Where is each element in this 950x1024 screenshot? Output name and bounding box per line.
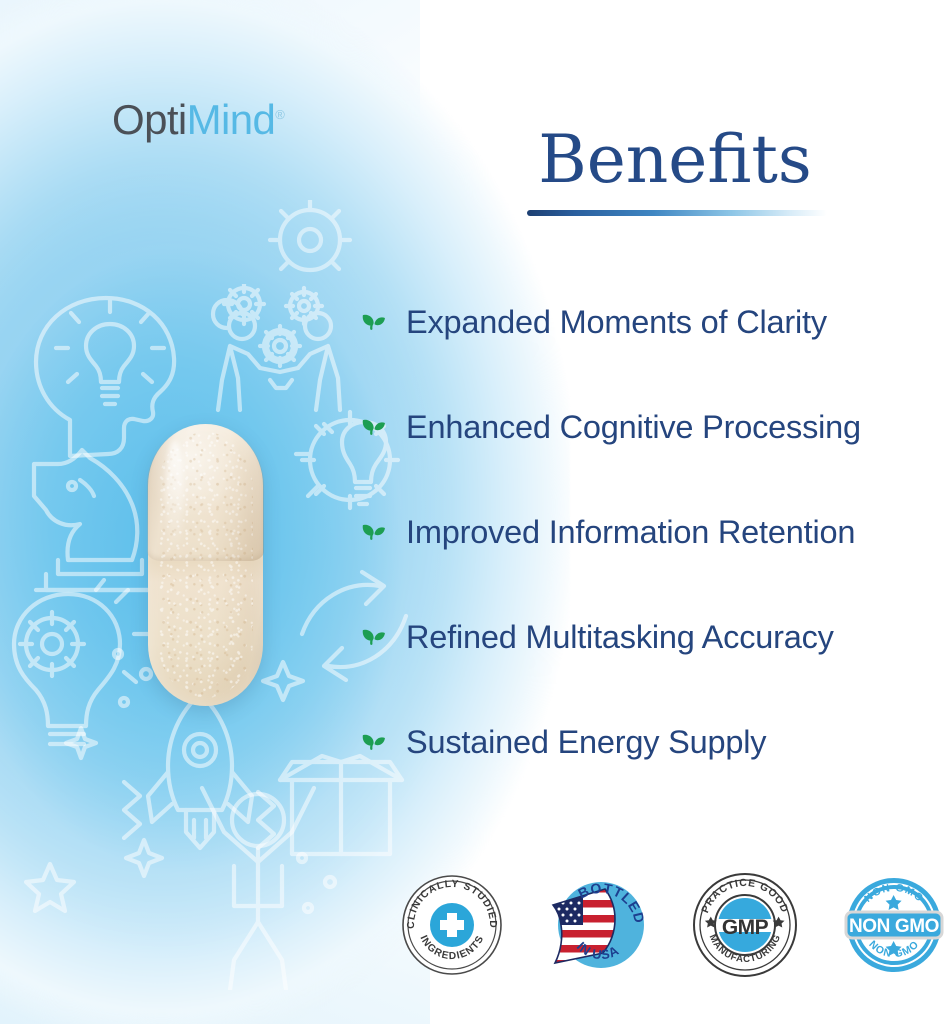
registered-trademark-icon: ® xyxy=(275,107,284,122)
green-leaf-sprout-icon xyxy=(358,727,388,757)
benefits-list: Expanded Moments of Clarity Enhanced Cog… xyxy=(358,296,950,768)
benefit-label: Enhanced Cognitive Processing xyxy=(406,409,861,446)
clinically-studied-ingredients-badge: CLINICALLY STUDIED INGREDIENTS xyxy=(398,871,506,979)
celebrating-person-icon xyxy=(172,770,342,990)
star-icon xyxy=(20,858,80,918)
green-leaf-sprout-icon xyxy=(358,517,388,547)
bottled-in-usa-badge: BOTTLED IN USA xyxy=(545,871,653,979)
green-leaf-sprout-icon xyxy=(358,622,388,652)
zigzag-icon xyxy=(112,776,152,846)
lightbulb-gear-icon xyxy=(0,578,157,748)
certification-badges: CLINICALLY STUDIED INGREDIENTS xyxy=(398,871,946,979)
dots-icon xyxy=(286,842,346,932)
benefit-label: Improved Information Retention xyxy=(406,514,855,551)
list-item: Enhanced Cognitive Processing xyxy=(358,401,950,453)
benefit-label: Expanded Moments of Clarity xyxy=(406,304,827,341)
rocket-icon xyxy=(138,680,283,855)
sparkle-icon xyxy=(62,724,100,762)
infographic-canvas: OptiMind® Benefits Expanded Moments of C… xyxy=(0,0,950,1024)
benefit-label: Refined Multitasking Accuracy xyxy=(406,619,834,656)
logo-opti-text: Opti xyxy=(112,96,187,143)
background-tint-bottom xyxy=(0,724,430,1024)
badge-center-text: GMP xyxy=(722,916,769,939)
people-gears-icon xyxy=(200,284,360,424)
list-item: Improved Information Retention xyxy=(358,506,950,558)
non-gmo-badge: NON GMO NON GMO NON GMO xyxy=(838,871,946,979)
background-tint-top xyxy=(0,0,420,300)
optimind-logo[interactable]: OptiMind® xyxy=(112,96,284,144)
list-item: Sustained Energy Supply xyxy=(358,716,950,768)
capsule-body xyxy=(148,424,263,706)
gmp-badge: GMP PRACTICE GOOD MANUFACTURING xyxy=(691,871,799,979)
list-item: Expanded Moments of Clarity xyxy=(358,296,950,348)
badge-center-text: NON GMO xyxy=(849,916,939,937)
sparkle-icon xyxy=(258,656,308,706)
chess-knight-icon xyxy=(12,440,162,600)
logo-mind-text: Mind xyxy=(187,96,276,143)
page-title: Benefits xyxy=(525,127,825,193)
sparkle-icon xyxy=(122,836,166,880)
capsule-cap xyxy=(147,424,264,561)
list-item: Refined Multitasking Accuracy xyxy=(358,611,950,663)
supplement-capsule xyxy=(148,424,263,706)
zigzag-icon xyxy=(246,786,286,856)
benefit-label: Sustained Energy Supply xyxy=(406,724,766,761)
green-leaf-sprout-icon xyxy=(358,307,388,337)
green-leaf-sprout-icon xyxy=(358,412,388,442)
capsule-highlight xyxy=(166,441,183,554)
title-underline xyxy=(527,210,827,216)
